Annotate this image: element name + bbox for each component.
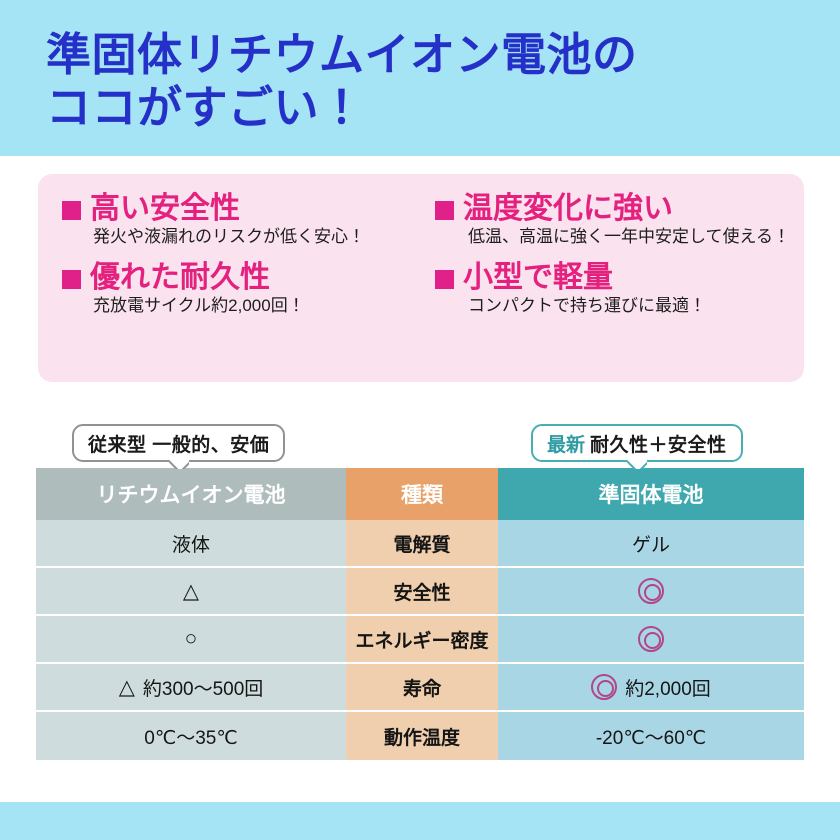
double-circle-mark-icon (638, 626, 664, 652)
table-header-row: リチウムイオン電池 種類 準固体電池 (36, 468, 804, 520)
feature-subtitle: 発火や液漏れのリスクが低く安心！ (93, 227, 409, 247)
page-title-line-1: 準固体リチウムイオン電池の (46, 28, 840, 81)
table-row: ○ エネルギー密度 (36, 616, 804, 664)
badge-accent-label: 最新 (547, 430, 585, 457)
cell-semisolid-safety (498, 568, 804, 616)
cell-category-safety: 安全性 (346, 568, 498, 616)
cell-lifespan-value: 約300〜500回 (143, 674, 263, 701)
cell-lifespan-value: 約2,000回 (625, 674, 711, 701)
triangle-mark-icon: △ (119, 675, 135, 700)
table-row: 0℃〜35℃ 動作温度 -20℃〜60℃ (36, 712, 804, 760)
badge-label: 耐久性＋安全性 (590, 430, 727, 457)
comparison-table: リチウムイオン電池 種類 準固体電池 液体 電解質 ゲル △ 安全性 (36, 468, 804, 760)
square-bullet-icon (435, 270, 454, 289)
table-row: △ 安全性 (36, 568, 804, 616)
cell-conventional-safety: △ (36, 568, 346, 616)
header-banner: 準固体リチウムイオン電池の ココがすごい！ (0, 0, 840, 156)
double-circle-mark-icon (638, 578, 664, 604)
double-circle-mark-icon (591, 674, 617, 700)
table-row: 液体 電解質 ゲル (36, 520, 804, 568)
feature-title: 温度変化に強い (463, 192, 673, 226)
feature-title: 小型で軽量 (463, 261, 613, 295)
features-column-right: 温度変化に強い 低温、高温に強く一年中安定して使える！ 小型で軽量 コンパクトで… (421, 192, 794, 382)
column-header-category: 種類 (346, 468, 498, 520)
circle-mark-icon: ○ (185, 627, 198, 650)
badge-label: 従来型 一般的、安価 (88, 430, 269, 457)
feature-title: 高い安全性 (90, 192, 240, 226)
table-row: △ 約300〜500回 寿命 約2,000回 (36, 664, 804, 712)
feature-heading: 高い安全性 (62, 192, 409, 226)
cell-semisolid-energy-density (498, 616, 804, 664)
features-panel: 高い安全性 発火や液漏れのリスクが低く安心！ 優れた耐久性 充放電サイクル約2,… (38, 174, 804, 382)
feature-subtitle: コンパクトで持ち運びに最適！ (468, 296, 782, 316)
badge-latest: 最新 耐久性＋安全性 (531, 424, 743, 462)
triangle-mark-icon: △ (183, 580, 199, 603)
feature-heading: 温度変化に強い (435, 192, 782, 226)
cell-category-lifespan: 寿命 (346, 664, 498, 712)
square-bullet-icon (62, 270, 81, 289)
features-column-left: 高い安全性 発火や液漏れのリスクが低く安心！ 優れた耐久性 充放電サイクル約2,… (48, 192, 421, 382)
cell-conventional-lifespan: △ 約300〜500回 (36, 664, 346, 712)
cell-conventional-electrolyte: 液体 (36, 520, 346, 568)
cell-category-energy-density: エネルギー密度 (346, 616, 498, 664)
column-header-conventional: リチウムイオン電池 (36, 468, 346, 520)
cell-semisolid-electrolyte: ゲル (498, 520, 804, 568)
square-bullet-icon (435, 201, 454, 220)
feature-item-durability: 優れた耐久性 充放電サイクル約2,000回！ (62, 261, 409, 316)
badge-pointer-icon (627, 459, 647, 469)
feature-heading: 小型で軽量 (435, 261, 782, 295)
cell-category-electrolyte: 電解質 (346, 520, 498, 568)
comparison-table-wrapper: リチウムイオン電池 種類 準固体電池 液体 電解質 ゲル △ 安全性 (36, 468, 804, 760)
feature-heading: 優れた耐久性 (62, 261, 409, 295)
page-title-line-2: ココがすごい！ (46, 81, 840, 134)
infographic-page: 準固体リチウムイオン電池の ココがすごい！ 高い安全性 発火や液漏れのリスクが低… (0, 0, 840, 840)
column-header-semisolid: 準固体電池 (498, 468, 804, 520)
feature-title: 優れた耐久性 (90, 261, 270, 295)
cell-category-temperature: 動作温度 (346, 712, 498, 760)
feature-item-temperature-resistance: 温度変化に強い 低温、高温に強く一年中安定して使える！ (435, 192, 782, 247)
badge-pointer-icon (169, 459, 189, 469)
cell-semisolid-lifespan: 約2,000回 (498, 664, 804, 712)
cell-conventional-temperature: 0℃〜35℃ (36, 712, 346, 760)
square-bullet-icon (62, 201, 81, 220)
feature-item-compact-lightweight: 小型で軽量 コンパクトで持ち運びに最適！ (435, 261, 782, 316)
feature-subtitle: 充放電サイクル約2,000回！ (93, 296, 409, 316)
footer-banner (0, 802, 840, 840)
feature-subtitle: 低温、高温に強く一年中安定して使える！ (468, 227, 782, 247)
cell-semisolid-temperature: -20℃〜60℃ (498, 712, 804, 760)
feature-item-high-safety: 高い安全性 発火や液漏れのリスクが低く安心！ (62, 192, 409, 247)
badge-conventional: 従来型 一般的、安価 (72, 424, 285, 462)
cell-conventional-energy-density: ○ (36, 616, 346, 664)
